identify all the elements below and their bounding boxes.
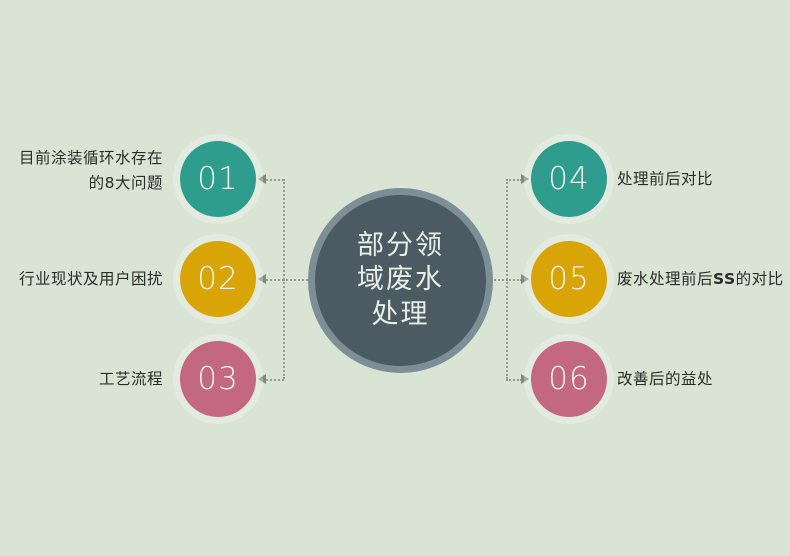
- center-hub[interactable]: 部分领 域废水 处理: [308, 188, 493, 373]
- arrow-left-01: [258, 174, 266, 184]
- node-number-04: 04: [548, 164, 589, 195]
- connector-branch-06: [506, 379, 522, 381]
- node-number-05: 05: [548, 264, 589, 295]
- arrow-right-04: [521, 174, 529, 184]
- node-number-02: 02: [197, 264, 238, 295]
- node-circle-01[interactable]: 01: [180, 141, 256, 217]
- connector-branch-02: [266, 279, 284, 281]
- arrow-right-06: [521, 374, 529, 384]
- hub-text-line-1: 部分领: [357, 229, 444, 264]
- connector-branch-01: [266, 179, 284, 181]
- node-number-01: 01: [197, 164, 238, 195]
- node-circle-06[interactable]: 06: [531, 341, 607, 417]
- hub-text-line-2: 域废水: [357, 263, 444, 298]
- connector-branch-03: [266, 379, 284, 381]
- node-number-06: 06: [548, 364, 589, 395]
- node-circle-04[interactable]: 04: [531, 141, 607, 217]
- node-number-03: 03: [197, 364, 238, 395]
- connector-branch-04: [506, 179, 522, 181]
- connector-hub-left-stem: [283, 279, 308, 281]
- diagram-canvas: 部分领 域废水 处理 01 目前涂装循环水存在的8大问题 02 行业现状及用户困…: [0, 0, 790, 556]
- node-label-04: 处理前后对比: [617, 167, 787, 192]
- node-circle-05[interactable]: 05: [531, 241, 607, 317]
- node-label-01: 目前涂装循环水存在的8大问题: [0, 146, 163, 196]
- node-label-03: 工艺流程: [0, 367, 163, 392]
- arrow-left-02: [258, 274, 266, 284]
- arrow-left-03: [258, 374, 266, 384]
- connector-branch-05: [506, 279, 522, 281]
- node-label-05: 废水处理前后SS的对比: [617, 267, 790, 292]
- arrow-right-05: [521, 274, 529, 284]
- node-label-02: 行业现状及用户困扰: [0, 267, 163, 292]
- node-circle-02[interactable]: 02: [180, 241, 256, 317]
- hub-text-line-3: 处理: [372, 298, 430, 333]
- node-circle-03[interactable]: 03: [180, 341, 256, 417]
- node-label-06: 改善后的益处: [617, 367, 787, 392]
